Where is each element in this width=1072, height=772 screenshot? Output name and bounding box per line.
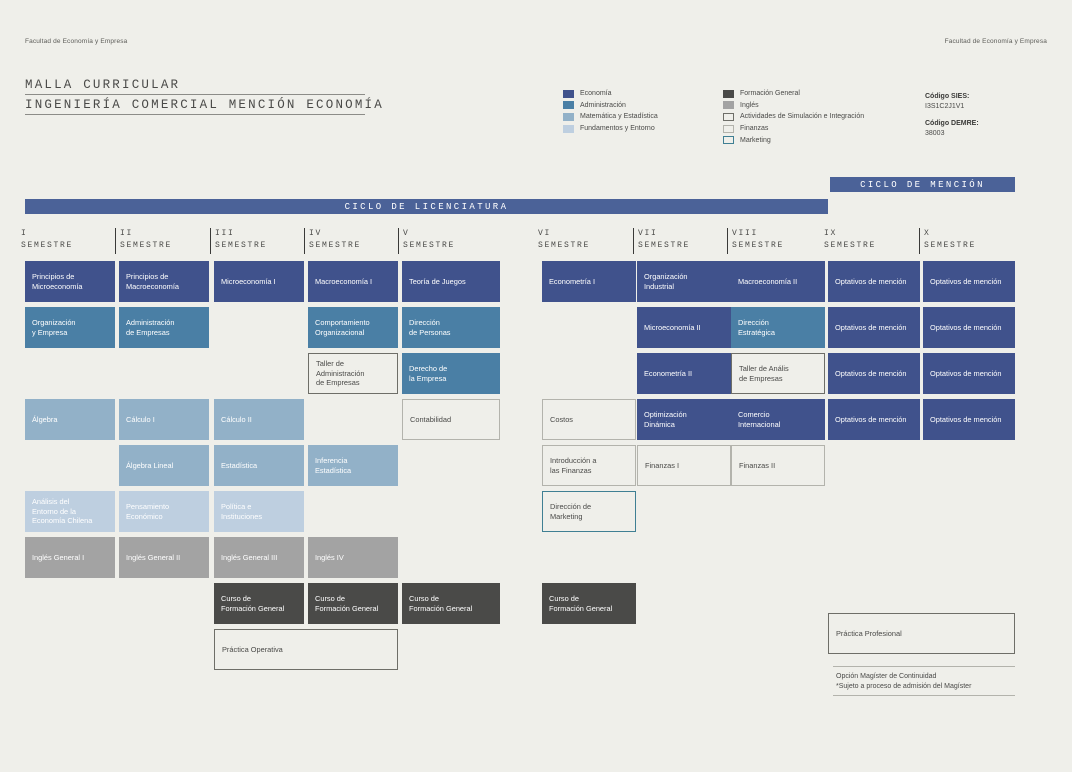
semester-roman: X (924, 228, 976, 240)
running-head-left: Facultad de Economía y Empresa (25, 38, 127, 45)
semester-roman: VI (538, 228, 590, 240)
course-box[interactable]: Finanzas I (637, 445, 731, 486)
legend-item: Economía (563, 88, 658, 100)
course-box[interactable]: Derecho de la Empresa (402, 353, 500, 394)
legend-column-2: Formación GeneralInglésActividades de Si… (723, 88, 864, 146)
legend-item: Inglés (723, 100, 864, 112)
course-box[interactable]: Teoría de Juegos (402, 261, 500, 302)
course-box[interactable]: Contabilidad (402, 399, 500, 440)
cycle-bar-licenciatura: CICLO DE LICENCIATURA (25, 199, 828, 214)
semester-word: SEMESTRE (21, 240, 73, 252)
semester-word: SEMESTRE (309, 240, 361, 252)
semester-roman: III (215, 228, 267, 240)
course-box[interactable]: Econometría II (637, 353, 731, 394)
course-box[interactable]: Dirección Estratégica (731, 307, 825, 348)
sies-label: Código SIES: (925, 92, 979, 102)
course-box[interactable]: Dirección de Personas (402, 307, 500, 348)
legend-item: Actividades de Simulación e Integración (723, 111, 864, 123)
course-box[interactable]: Optativos de mención (828, 261, 920, 302)
legend-swatch-icon (563, 113, 574, 121)
legend-swatch-icon (563, 90, 574, 98)
legend-swatch-icon (723, 125, 734, 133)
semester-header-ix: IXSEMESTRE (824, 228, 876, 254)
magister-note-line-1: Opción Magíster de Continuidad (836, 672, 936, 682)
course-box[interactable]: Comportamiento Organizacional (308, 307, 398, 348)
course-box[interactable]: Inglés General I (25, 537, 115, 578)
semester-header-viii: VIIISEMESTRE (727, 228, 784, 254)
course-box[interactable]: Optativos de mención (923, 353, 1015, 394)
semester-word: SEMESTRE (120, 240, 172, 252)
semester-roman: IX (824, 228, 876, 240)
semester-header-x: XSEMESTRE (919, 228, 976, 254)
semester-roman: VIII (732, 228, 784, 240)
semester-roman: IV (309, 228, 361, 240)
semester-word: SEMESTRE (403, 240, 455, 252)
legend-swatch-icon (723, 90, 734, 98)
course-box[interactable]: Inferencia Estadística (308, 445, 398, 486)
title-line-2: INGENIERÍA COMERCIAL MENCIÓN ECONOMÍA (25, 98, 365, 115)
course-box[interactable]: Microeconomía II (637, 307, 731, 348)
legend-label: Economía (580, 90, 612, 97)
semester-word: SEMESTRE (924, 240, 976, 252)
semester-header-vi: VISEMESTRE (538, 228, 590, 254)
legend-item: Finanzas (723, 123, 864, 135)
curriculum-map-page: Facultad de Economía y Empresa Facultad … (0, 0, 1072, 772)
semester-header-iii: IIISEMESTRE (210, 228, 267, 254)
course-box[interactable]: Optativos de mención (923, 261, 1015, 302)
course-box[interactable]: Álgebra Lineal (119, 445, 209, 486)
running-head-right: Facultad de Economía y Empresa (945, 38, 1047, 45)
legend-item: Matemática y Estadística (563, 111, 658, 123)
course-box[interactable]: Macroeconomía II (731, 261, 825, 302)
course-box[interactable]: Cálculo I (119, 399, 209, 440)
legend-label: Inglés (740, 102, 759, 109)
course-box[interactable]: Optativos de mención (828, 307, 920, 348)
course-box[interactable]: Estadística (214, 445, 304, 486)
cycle-bar-mencion: CICLO DE MENCIÓN (830, 177, 1015, 192)
course-box[interactable]: Pensamiento Económico (119, 491, 209, 532)
semester-word: SEMESTRE (732, 240, 784, 252)
course-box[interactable]: Curso de Formación General (542, 583, 636, 624)
course-box[interactable]: Práctica Operativa (214, 629, 398, 670)
magister-rule-top (833, 666, 1015, 667)
course-box[interactable]: Optimización Dinámica (637, 399, 731, 440)
legend-swatch-icon (563, 125, 574, 133)
legend-label: Finanzas (740, 125, 768, 132)
sies-value: I3S1C2J1V1 (925, 102, 979, 112)
legend-item: Marketing (723, 134, 864, 146)
legend-item: Fundamentos y Entorno (563, 123, 658, 135)
course-box[interactable]: Práctica Profesional (828, 613, 1015, 654)
course-box[interactable]: Inglés General II (119, 537, 209, 578)
legend-item: Formación General (723, 88, 864, 100)
course-box[interactable]: Administración de Empresas (119, 307, 209, 348)
course-box[interactable]: Cálculo II (214, 399, 304, 440)
semester-word: SEMESTRE (215, 240, 267, 252)
course-box[interactable]: Dirección de Marketing (542, 491, 636, 532)
semester-header-vii: VIISEMESTRE (633, 228, 690, 254)
semester-word: SEMESTRE (824, 240, 876, 252)
magister-rule-bottom (833, 695, 1015, 696)
course-box[interactable]: Inglés IV (308, 537, 398, 578)
legend-label: Actividades de Simulación e Integración (740, 113, 864, 120)
legend-label: Marketing (740, 137, 771, 144)
course-box[interactable]: Principios de Microeconomía (25, 261, 115, 302)
course-box[interactable]: Introducción a las Finanzas (542, 445, 636, 486)
legend-swatch-icon (723, 113, 734, 121)
legend-swatch-icon (723, 136, 734, 144)
course-box[interactable]: Finanzas II (731, 445, 825, 486)
legend-label: Fundamentos y Entorno (580, 125, 655, 132)
course-box[interactable]: Política e Instituciones (214, 491, 304, 532)
course-box[interactable]: Inglés General III (214, 537, 304, 578)
course-box[interactable]: Comercio Internacional (731, 399, 825, 440)
course-box[interactable]: Curso de Formación General (308, 583, 398, 624)
course-box[interactable]: Optativos de mención (923, 307, 1015, 348)
course-box[interactable]: Organización y Empresa (25, 307, 115, 348)
semester-header-ii: IISEMESTRE (115, 228, 172, 254)
legend-label: Formación General (740, 90, 800, 97)
legend-label: Administración (580, 102, 626, 109)
course-box[interactable]: Microeconomía I (214, 261, 304, 302)
course-box[interactable]: Optativos de mención (923, 399, 1015, 440)
semester-roman: I (21, 228, 73, 240)
semester-roman: V (403, 228, 455, 240)
legend-column-1: EconomíaAdministraciónMatemática y Estad… (563, 88, 658, 134)
legend-item: Administración (563, 100, 658, 112)
legend-swatch-icon (563, 101, 574, 109)
semester-header-i: ISEMESTRE (21, 228, 73, 254)
course-box[interactable]: Optativos de mención (828, 353, 920, 394)
course-box[interactable]: Taller de Administración de Empresas (308, 353, 398, 394)
course-box[interactable]: Macroeconomía I (308, 261, 398, 302)
course-box[interactable]: Econometría I (542, 261, 636, 302)
course-box[interactable]: Curso de Formación General (214, 583, 304, 624)
course-box[interactable]: Análisis del Entorno de la Economía Chil… (25, 491, 115, 532)
semester-header-v: VSEMESTRE (398, 228, 455, 254)
demre-label: Código DEMRE: (925, 119, 979, 129)
course-box[interactable]: Costos (542, 399, 636, 440)
semester-roman: II (120, 228, 172, 240)
program-codes: Código SIES: I3S1C2J1V1 Código DEMRE: 38… (925, 92, 979, 147)
course-box[interactable]: Principios de Macroeconomía (119, 261, 209, 302)
magister-note-line-2: *Sujeto a proceso de admisión del Magíst… (836, 682, 971, 692)
course-box[interactable]: Taller de Anális de Empresas (731, 353, 825, 394)
course-box[interactable]: Curso de Formación General (402, 583, 500, 624)
legend-label: Matemática y Estadística (580, 113, 658, 120)
course-box[interactable]: Organización Industrial (637, 261, 731, 302)
demre-value: 38003 (925, 129, 979, 139)
course-box[interactable]: Álgebra (25, 399, 115, 440)
course-box[interactable]: Optativos de mención (828, 399, 920, 440)
semester-word: SEMESTRE (538, 240, 590, 252)
semester-word: SEMESTRE (638, 240, 690, 252)
semester-header-iv: IVSEMESTRE (304, 228, 361, 254)
legend-swatch-icon (723, 101, 734, 109)
semester-roman: VII (638, 228, 690, 240)
title-line-1: MALLA CURRICULAR (25, 78, 365, 95)
page-title: MALLA CURRICULAR INGENIERÍA COMERCIAL ME… (25, 78, 365, 118)
